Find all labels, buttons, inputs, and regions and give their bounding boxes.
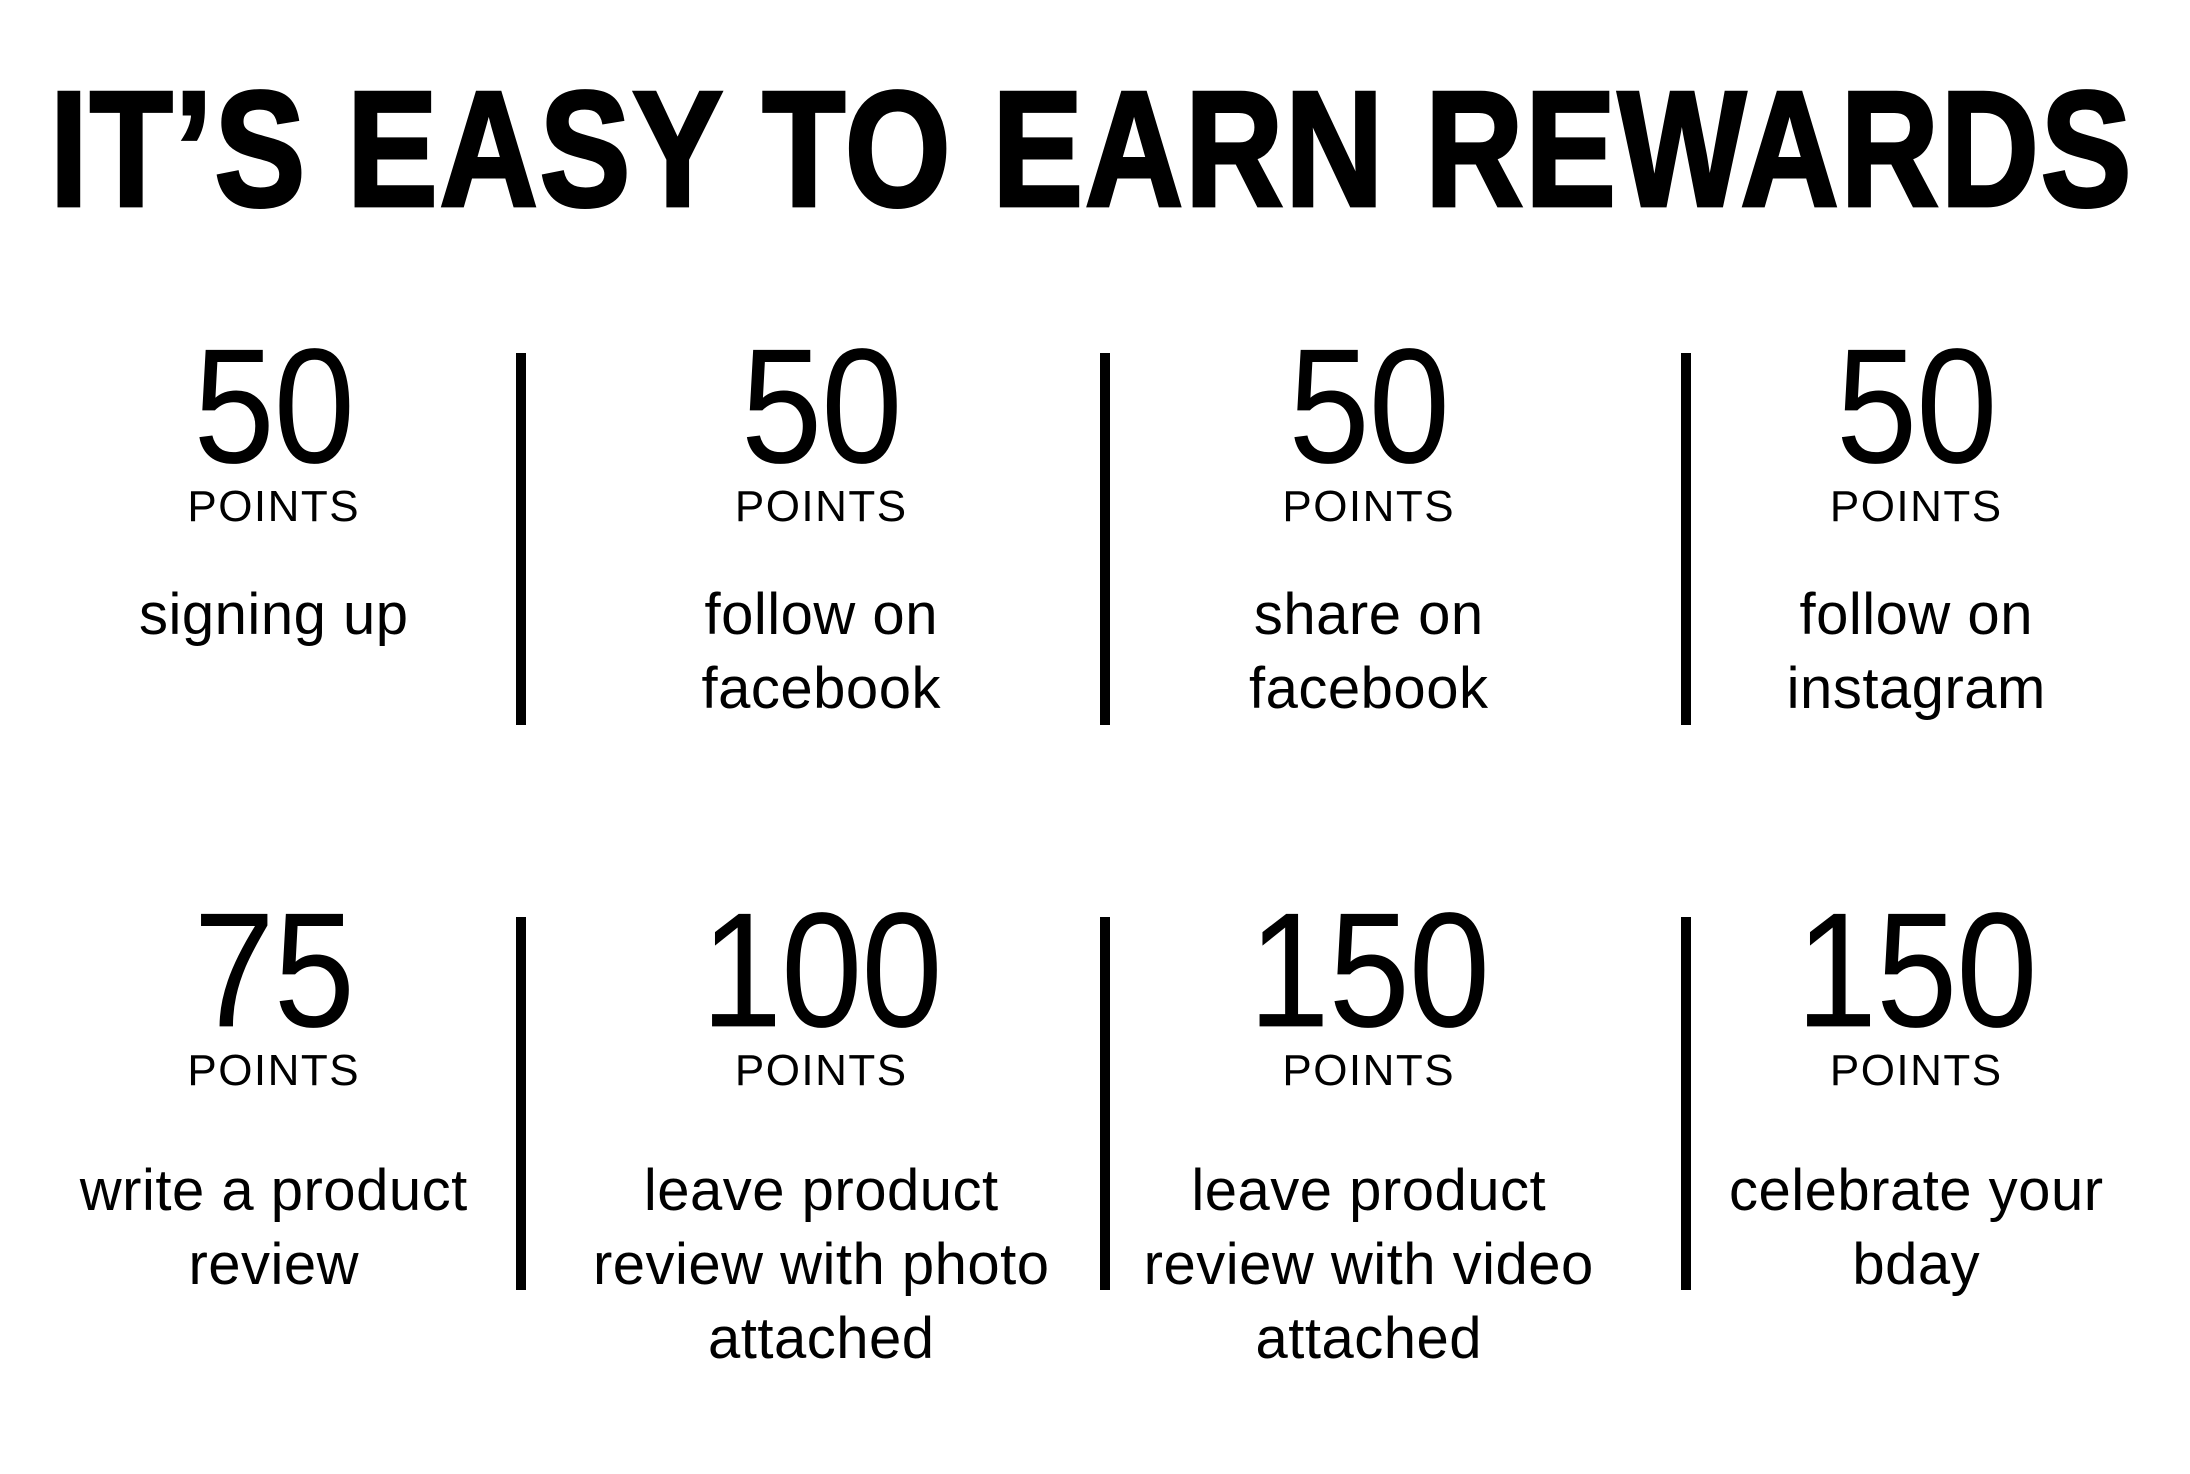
points-value: 50 [1289,338,1449,475]
column-divider [1681,917,1691,1290]
reward-task-label: celebrate your bday [1681,1154,2151,1302]
reward-cell-birthday: 150 POINTS celebrate your bday [1643,902,2190,1302]
points-value: 50 [1836,338,1996,475]
reward-cell-signing-up: 50 POINTS signing up [0,338,548,652]
rewards-row-2: 75 POINTS write a product review 100 POI… [0,902,2190,1322]
reward-task-label: write a product review [39,1154,509,1302]
reward-task-label: signing up [139,578,408,652]
reward-task-label: leave product review with video attached [1134,1154,1604,1376]
reward-task-label: share on facebook [1134,578,1604,726]
points-value: 150 [1796,902,2037,1039]
column-divider [516,353,526,725]
reward-cell-follow-instagram: 50 POINTS follow on instagram [1643,338,2190,726]
reward-task-label: follow on facebook [586,578,1056,726]
column-divider [1681,353,1691,725]
points-value: 100 [701,902,942,1039]
points-value: 50 [741,338,901,475]
reward-cell-review-photo: 100 POINTS leave product review with pho… [548,902,1096,1376]
points-value: 150 [1248,902,1489,1039]
reward-task-label: follow on instagram [1681,578,2151,726]
points-value: 50 [194,338,354,475]
page-title: IT’S EASY TO EARN REWARDS [50,80,2190,221]
reward-cell-review-video: 150 POINTS leave product review with vid… [1095,902,1643,1376]
points-value: 75 [194,902,354,1039]
column-divider [1100,353,1110,725]
reward-cell-follow-facebook: 50 POINTS follow on facebook [548,338,1096,726]
reward-cell-write-review: 75 POINTS write a product review [0,902,548,1302]
reward-cell-share-facebook: 50 POINTS share on facebook [1095,338,1643,726]
column-divider [1100,917,1110,1290]
rewards-row-1: 50 POINTS signing up 50 POINTS follow on… [0,338,2190,738]
reward-task-label: leave product review with photo attached [586,1154,1056,1376]
rewards-infographic: IT’S EASY TO EARN REWARDS 50 POINTS sign… [0,0,2190,1474]
column-divider [516,917,526,1290]
